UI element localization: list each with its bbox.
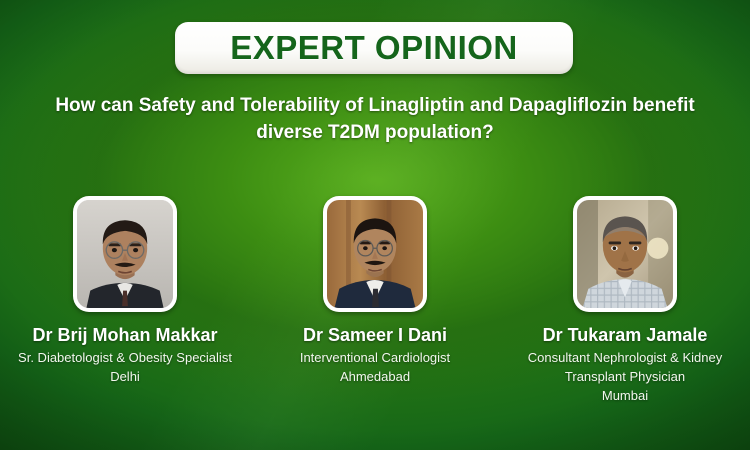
- doctor-card: Dr Tukaram Jamale Consultant Nephrologis…: [500, 196, 750, 405]
- question-heading: How can Safety and Tolerability of Linag…: [20, 92, 730, 146]
- doctor-portrait-photo: [577, 200, 673, 308]
- portrait-illustration: [577, 200, 673, 308]
- doctor-city: Delhi: [110, 367, 140, 386]
- doctor-portrait-photo: [77, 200, 173, 308]
- expert-opinion-slide: EXPERT OPINION How can Safety and Tolera…: [0, 0, 750, 450]
- doctor-city: Mumbai: [602, 386, 648, 405]
- doctor-city: Ahmedabad: [340, 367, 410, 386]
- doctor-photo-frame: [323, 196, 427, 312]
- portrait-illustration: [77, 200, 173, 308]
- doctor-specialty: Consultant Nephrologist & Kidney Transpl…: [506, 348, 744, 386]
- doctor-name: Dr Tukaram Jamale: [543, 324, 708, 346]
- doctor-specialty: Sr. Diabetologist & Obesity Specialist: [18, 348, 232, 367]
- doctor-specialty: Interventional Cardiologist: [300, 348, 450, 367]
- doctor-name: Dr Sameer I Dani: [303, 324, 447, 346]
- portrait-illustration: [327, 200, 423, 308]
- question-line-2: diverse T2DM population?: [20, 119, 730, 146]
- doctor-photo-frame: [73, 196, 177, 312]
- banner-title-text: EXPERT OPINION: [230, 29, 518, 67]
- doctor-card: Dr Brij Mohan Makkar Sr. Diabetologist &…: [0, 196, 250, 386]
- doctor-portrait-photo: [327, 200, 423, 308]
- title-banner: EXPERT OPINION: [175, 22, 573, 74]
- doctor-card: Dr Sameer I Dani Interventional Cardiolo…: [250, 196, 500, 386]
- doctor-photo-frame: [573, 196, 677, 312]
- doctor-panel-list: Dr Brij Mohan Makkar Sr. Diabetologist &…: [0, 196, 750, 405]
- doctor-name: Dr Brij Mohan Makkar: [32, 324, 217, 346]
- question-line-1: How can Safety and Tolerability of Linag…: [20, 92, 730, 119]
